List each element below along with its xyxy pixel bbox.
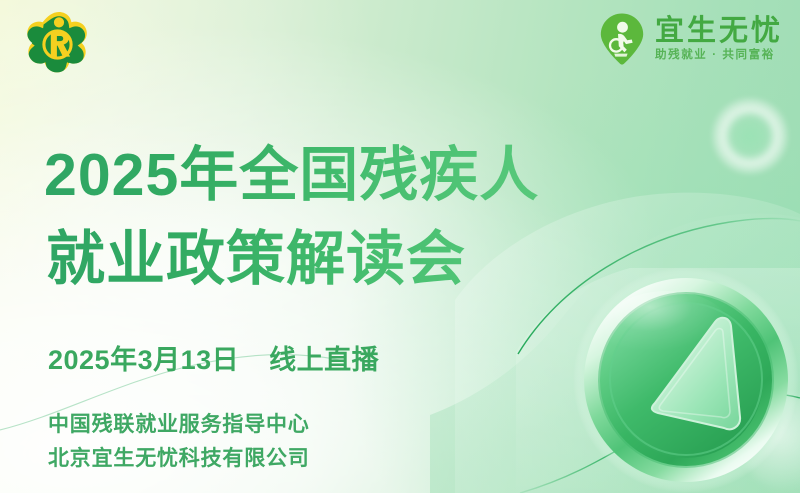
organizer-list: 中国残联就业服务指导中心 北京宜生无忧科技有限公司 [48,408,310,476]
poster-canvas: 宜生无忧 助残就业 · 共同富裕 2025年全国残疾人 就业政策解读会 2025… [0,0,800,493]
organizer-primary: 中国残联就业服务指导中心 [48,408,310,442]
yishengwuyou-brand: 宜生无忧 助残就业 · 共同富裕 [598,12,783,66]
event-broadcast-mode: 线上直播 [269,345,379,375]
brand-name: 宜生无忧 [655,16,783,46]
organizer-secondary: 北京宜生无忧科技有限公司 [48,442,310,476]
event-date-and-format: 2025年3月13日 线上直播 [48,338,379,377]
location-pin-wheelchair-icon [598,12,646,66]
play-button-icon[interactable] [571,265,800,493]
event-date: 2025年3月13日 [48,345,239,375]
brand-slogan: 助残就业 · 共同富裕 [655,49,783,62]
title-line-2: 就业政策解读会 [46,217,539,301]
china-disabled-persons-federation-emblem-icon [27,9,91,73]
page-title: 2025年全国残疾人 就业政策解读会 [44,133,539,301]
title-line-1: 2025年全国残疾人 [44,133,539,217]
play-button[interactable] [571,265,800,493]
glow-bubble-icon [712,98,788,174]
